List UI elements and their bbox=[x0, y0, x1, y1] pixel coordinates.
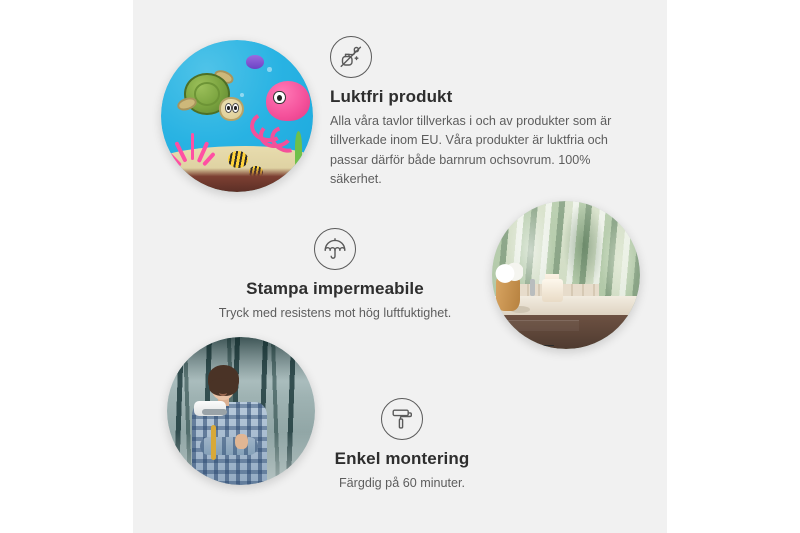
drawer-handle bbox=[523, 345, 554, 346]
roller-handle bbox=[211, 425, 216, 460]
feature-title: Luktfri produkt bbox=[330, 86, 625, 107]
turtle-eye bbox=[232, 103, 239, 113]
feature-title: Stampa impermeabile bbox=[205, 278, 465, 299]
coral bbox=[173, 133, 213, 173]
turtle-head bbox=[219, 97, 244, 121]
door-handle bbox=[616, 342, 620, 347]
feature-body: Alla våra tavlor tillverkas i och av pro… bbox=[330, 112, 625, 189]
no-fragrance-icon bbox=[330, 36, 372, 78]
faucet bbox=[530, 279, 534, 295]
bathroom-wallpaper-photo-inner bbox=[492, 201, 640, 349]
seabed-shadow bbox=[161, 168, 313, 192]
hair bbox=[208, 365, 238, 392]
feature-waterproof: Stampa impermeabile Tryck med resistens … bbox=[205, 228, 465, 323]
woman-paint-roller-photo-inner bbox=[167, 337, 315, 485]
feature-body: Tryck med resistens mot hög luftfuktighe… bbox=[205, 304, 465, 323]
purple-fish bbox=[246, 55, 264, 69]
sea-turtle bbox=[181, 73, 242, 123]
feature-title: Enkel montering bbox=[302, 448, 502, 469]
roller-bar bbox=[202, 409, 228, 415]
coral-branch bbox=[191, 133, 195, 161]
woman-figure bbox=[191, 370, 271, 485]
feature-easy-assembly: Enkel montering Färgdig på 60 minuter. bbox=[302, 398, 502, 493]
octopus-head bbox=[266, 81, 310, 121]
seaweed bbox=[295, 131, 303, 167]
woman-paint-roller-photo bbox=[167, 337, 315, 485]
crossed-arms bbox=[200, 437, 258, 455]
product-feature-banner: Luktfri produkt Alla våra tavlor tillver… bbox=[0, 0, 800, 533]
wood-cabinet bbox=[501, 315, 640, 349]
yellow-striped-fish bbox=[228, 151, 248, 168]
soap-dispenser bbox=[542, 279, 563, 301]
octopus-eye bbox=[273, 91, 286, 105]
underwater-cartoon-photo-inner bbox=[161, 40, 313, 192]
white-flowers bbox=[493, 263, 523, 284]
paint-roller-icon bbox=[381, 398, 423, 440]
umbrella-icon bbox=[314, 228, 356, 270]
feature-odourless: Luktfri produkt Alla våra tavlor tillver… bbox=[330, 36, 625, 189]
underwater-cartoon-photo bbox=[161, 40, 313, 192]
hand bbox=[235, 434, 248, 449]
bubble-icon bbox=[267, 67, 272, 72]
bathroom-wallpaper-photo bbox=[492, 201, 640, 349]
feature-body: Färgdig på 60 minuter. bbox=[302, 474, 502, 493]
turtle-eye bbox=[225, 103, 232, 113]
